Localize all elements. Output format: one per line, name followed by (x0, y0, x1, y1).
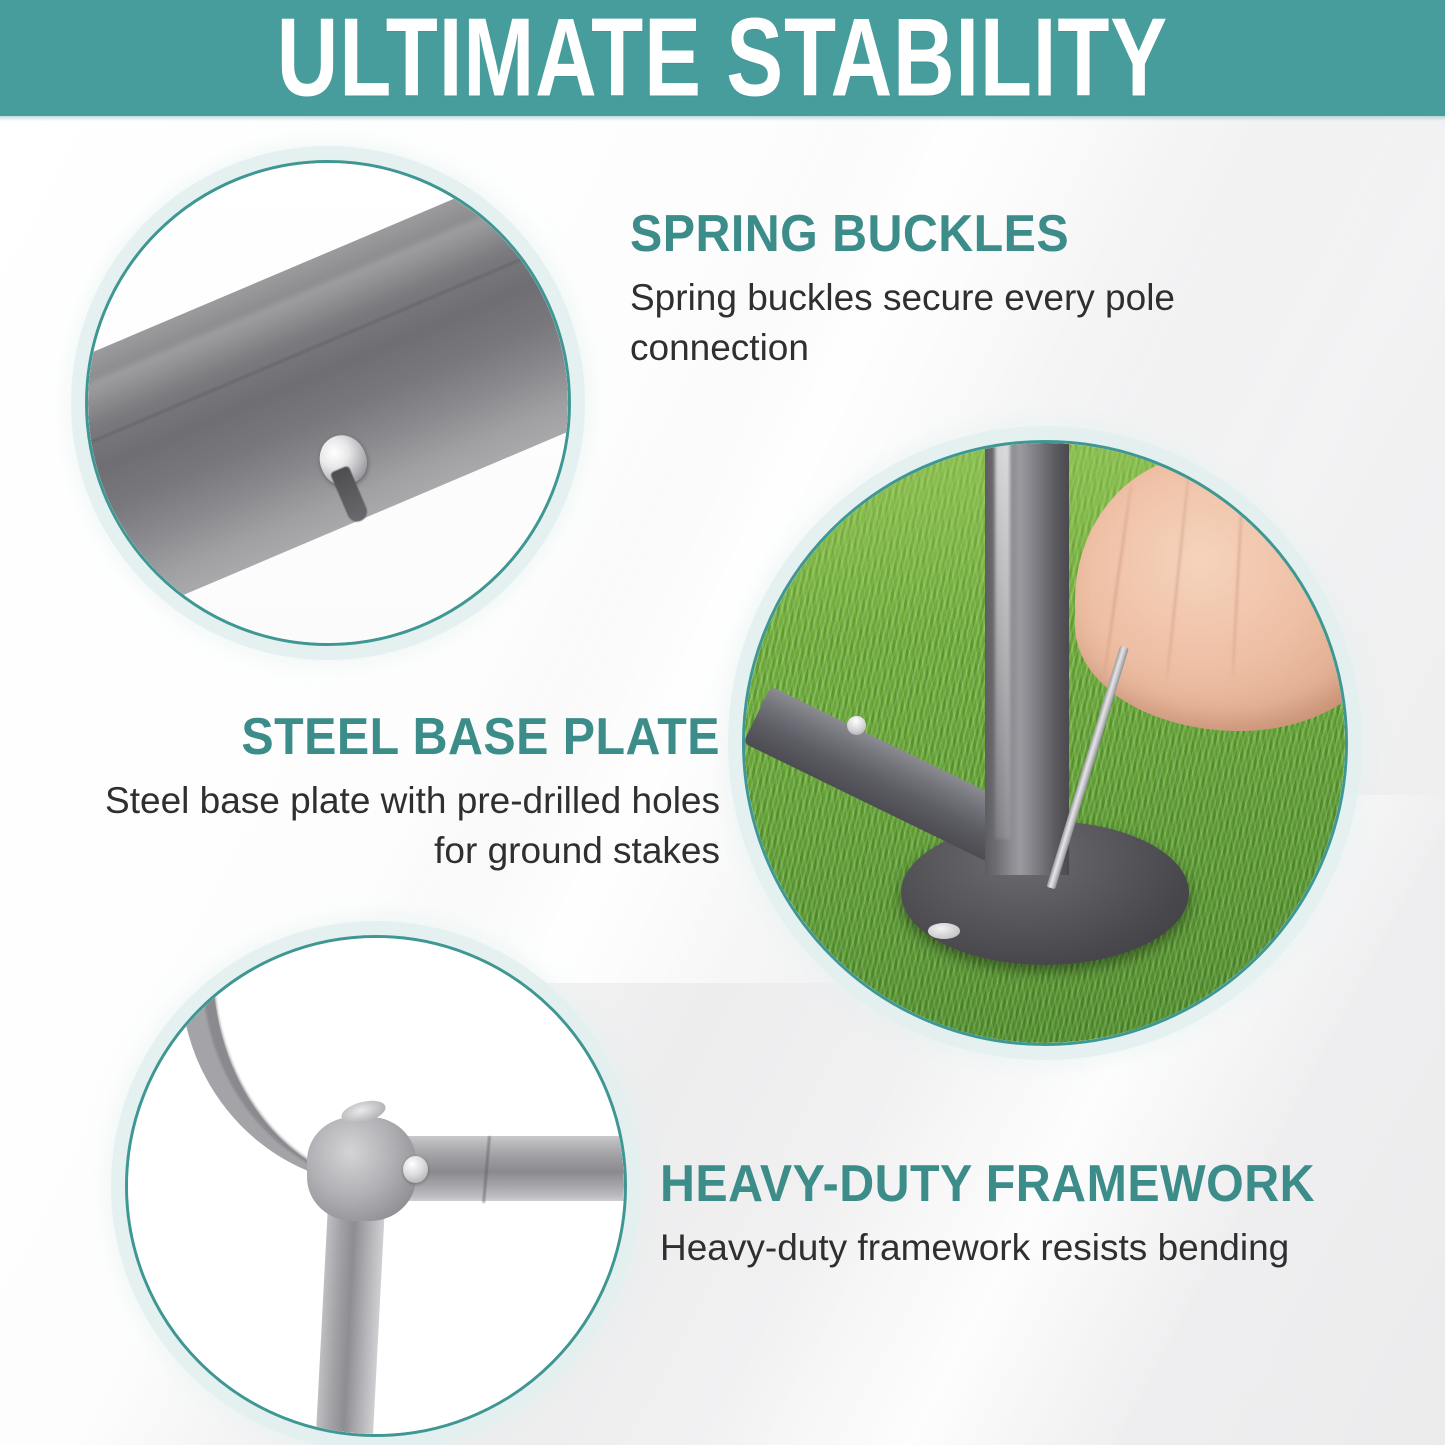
feature-body-steel-base-plate: Steel base plate with pre-drilled holes … (80, 776, 720, 876)
photo-inner (128, 938, 624, 1434)
feature-block-spring-buckles: SPRING BUCKLES Spring buckles secure eve… (630, 205, 1270, 373)
spring-button-icon (403, 1156, 428, 1183)
photo-spring-buckle-closeup (85, 160, 571, 646)
feature-title-spring-buckles: SPRING BUCKLES (630, 205, 1225, 263)
header-banner: ULTIMATE STABILITY (0, 0, 1445, 116)
feature-body-heavy-duty-framework: Heavy-duty framework resists bending (660, 1223, 1390, 1273)
feature-title-heavy-duty-framework: HEAVY-DUTY FRAMEWORK (660, 1155, 1339, 1213)
photo-base-plate-grass (742, 440, 1348, 1046)
banner-underline (0, 116, 1445, 121)
feature-block-steel-base-plate: STEEL BASE PLATE Steel base plate with p… (80, 708, 720, 876)
photo-inner (88, 163, 568, 643)
vertical-pole-highlight (995, 443, 1011, 839)
infographic-page: ULTIMATE STABILITY (0, 0, 1445, 1445)
feature-body-spring-buckles: Spring buckles secure every pole connect… (630, 273, 1270, 373)
base-plate-hole (928, 923, 960, 939)
photo-inner (745, 443, 1345, 1043)
banner-title: ULTIMATE STABILITY (277, 2, 1168, 113)
photo-framework-junction (125, 935, 627, 1437)
feature-title-steel-base-plate: STEEL BASE PLATE (125, 708, 720, 766)
feature-block-heavy-duty-framework: HEAVY-DUTY FRAMEWORK Heavy-duty framewor… (660, 1155, 1390, 1273)
pole-joint-shape (307, 1117, 416, 1221)
